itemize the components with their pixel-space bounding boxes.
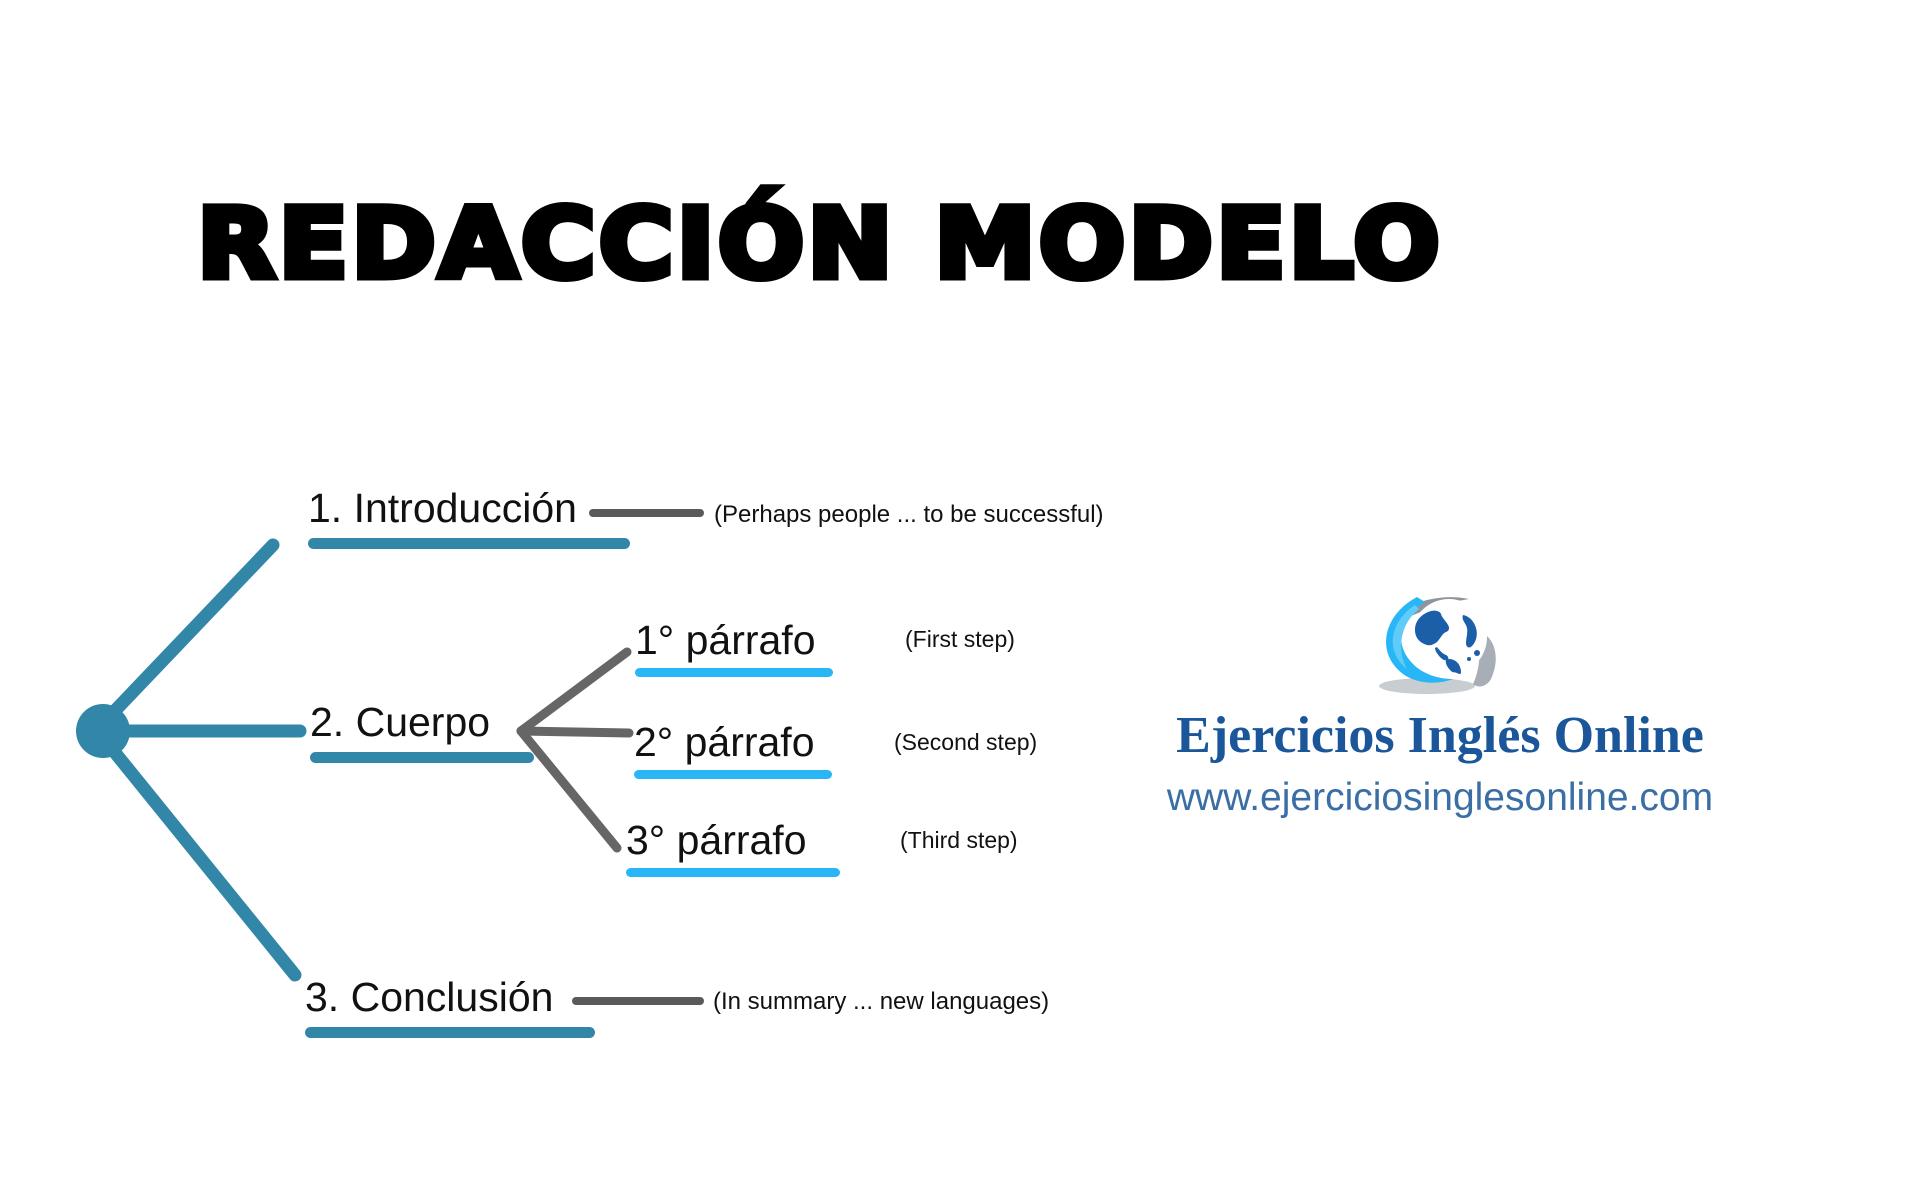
node-introduccion-underline xyxy=(308,538,630,549)
node-cuerpo-underline xyxy=(310,752,534,763)
brand-url[interactable]: www.ejerciciosinglesonline.com xyxy=(1120,778,1760,819)
node-introduccion[interactable]: 1. Introducción xyxy=(308,488,630,549)
node-parrafo-3[interactable]: 3° párrafo xyxy=(626,820,840,877)
node-cuerpo-label: 2. Cuerpo xyxy=(310,702,534,743)
root-node xyxy=(76,704,130,758)
brand-name: Ejercicios Inglés Online xyxy=(1120,709,1760,764)
cuerpo-branch-parrafo-1 xyxy=(521,652,627,731)
hint-parrafo-2: (Second step) xyxy=(894,731,1037,754)
node-parrafo-2-underline xyxy=(634,770,832,779)
node-cuerpo[interactable]: 2. Cuerpo xyxy=(310,702,534,763)
hint-conclusion: (In summary ... new languages) xyxy=(713,990,1049,1014)
cuerpo-fan-group xyxy=(521,652,629,848)
root-branch-conclusion xyxy=(108,744,295,975)
root-branch-introduccion xyxy=(108,545,273,718)
node-parrafo-2-label: 2° párrafo xyxy=(634,722,832,763)
node-conclusion-underline xyxy=(305,1027,595,1038)
slide-canvas: REDACCIÓN MODELO 1. Introducción 2. Cuer… xyxy=(0,0,1920,1200)
root-branch-group xyxy=(108,545,300,975)
node-parrafo-2[interactable]: 2° párrafo xyxy=(634,722,832,779)
page-title: REDACCIÓN MODELO xyxy=(0,196,1689,292)
node-conclusion-label: 3. Conclusión xyxy=(305,977,595,1018)
node-parrafo-3-underline xyxy=(626,868,840,877)
brand-logo-block[interactable]: Ejercicios Inglés Online www.ejerciciosi… xyxy=(1120,585,1760,819)
node-parrafo-1-label: 1° párrafo xyxy=(635,620,833,661)
node-parrafo-1[interactable]: 1° párrafo xyxy=(635,620,833,677)
node-introduccion-label: 1. Introducción xyxy=(308,488,630,529)
cuerpo-branch-parrafo-3 xyxy=(521,731,617,848)
hint-parrafo-1: (First step) xyxy=(905,628,1015,651)
globe-swoosh-icon xyxy=(1345,585,1535,705)
node-conclusion[interactable]: 3. Conclusión xyxy=(305,977,595,1038)
node-parrafo-3-label: 3° párrafo xyxy=(626,820,840,861)
hint-introduccion: (Perhaps people ... to be successful) xyxy=(714,503,1104,527)
hint-parrafo-3: (Third step) xyxy=(900,829,1018,852)
node-parrafo-1-underline xyxy=(635,668,833,677)
cuerpo-branch-parrafo-2 xyxy=(521,731,629,733)
